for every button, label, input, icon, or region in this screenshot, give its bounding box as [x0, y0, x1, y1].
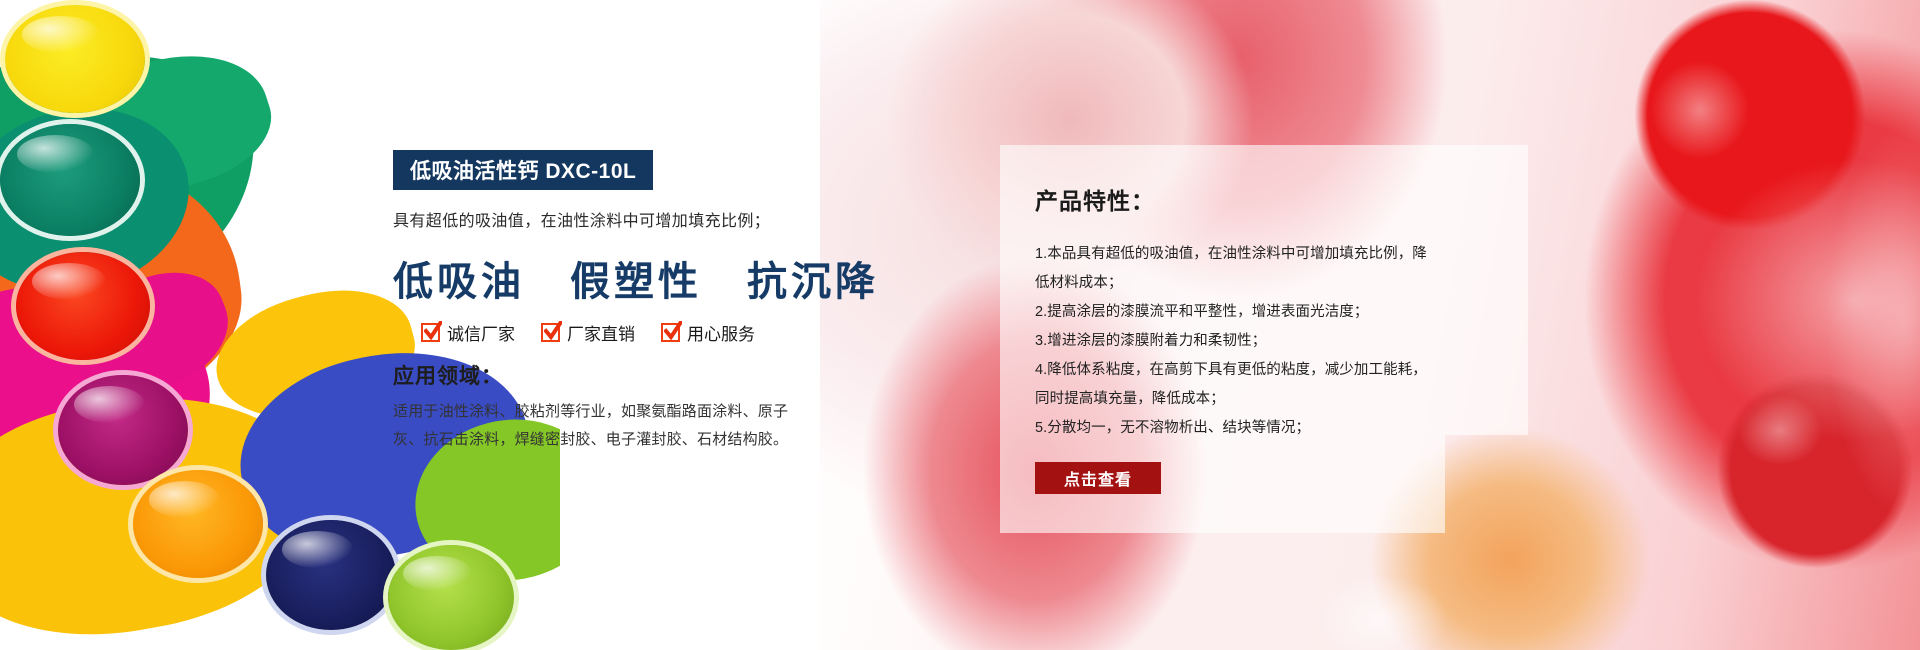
- panel-heading: 产品特性：: [1035, 182, 1155, 216]
- headline-word-3: 抗沉降: [747, 249, 879, 307]
- product-title-badge: 低吸油活性钙 DXC-10L: [393, 150, 653, 190]
- list-item: 4.降低体系粘度，在高剪下具有更低的粘度，减少加工能耗，同时提高填充量，降低成本…: [1035, 356, 1435, 414]
- application-heading: 应用领域：: [393, 360, 503, 390]
- list-item: 5.分散均一，无不溶物析出、结块等情况；: [1035, 414, 1435, 443]
- paint-pot-navy: [266, 520, 396, 630]
- feature-item: 厂家直销: [541, 320, 635, 345]
- list-item: 2.提高涂层的漆膜流平和平整性，增进表面光洁度；: [1035, 298, 1435, 327]
- paint-pot-teal: [0, 124, 140, 236]
- product-subtitle: 具有超低的吸油值，在油性涂料中可增加填充比例；: [393, 207, 770, 231]
- feature-label: 用心服务: [687, 320, 755, 345]
- paint-pot-yellow: [5, 5, 145, 113]
- trust-feature-list: 诚信厂家 厂家直销 用心服务: [421, 320, 755, 345]
- checkbox-checked-icon: [421, 323, 440, 342]
- characteristics-list: 1.本品具有超低的吸油值，在油性涂料中可增加填充比例，降低材料成本； 2.提高涂…: [1035, 240, 1435, 443]
- paint-pot-purple: [58, 375, 188, 485]
- product-headline: 低吸油 假塑性 抗沉降: [393, 249, 879, 307]
- feature-item: 诚信厂家: [421, 320, 515, 345]
- list-item: 3.增进涂层的漆膜附着力和柔韧性；: [1035, 327, 1435, 356]
- application-body: 适用于油性涂料、胶粘剂等行业，如聚氨酯路面涂料、原子灰、抗石击涂料，焊缝密封胶、…: [393, 398, 813, 454]
- feature-label: 厂家直销: [567, 320, 635, 345]
- checkbox-checked-icon: [541, 323, 560, 342]
- checkbox-checked-icon: [661, 323, 680, 342]
- headline-word-1: 低吸油: [393, 249, 525, 307]
- view-details-button[interactable]: 点击查看: [1035, 462, 1161, 494]
- paint-pot-orange: [133, 470, 263, 578]
- product-banner: 低吸油活性钙 DXC-10L 具有超低的吸油值，在油性涂料中可增加填充比例； 低…: [0, 0, 1920, 650]
- paint-pot-red: [16, 252, 150, 360]
- list-item: 1.本品具有超低的吸油值，在油性涂料中可增加填充比例，降低材料成本；: [1035, 240, 1435, 298]
- headline-word-2: 假塑性: [570, 249, 702, 307]
- feature-label: 诚信厂家: [447, 320, 515, 345]
- feature-item: 用心服务: [661, 320, 755, 345]
- product-copy-block: 低吸油活性钙 DXC-10L 具有超低的吸油值，在油性涂料中可增加填充比例； 低…: [393, 0, 953, 650]
